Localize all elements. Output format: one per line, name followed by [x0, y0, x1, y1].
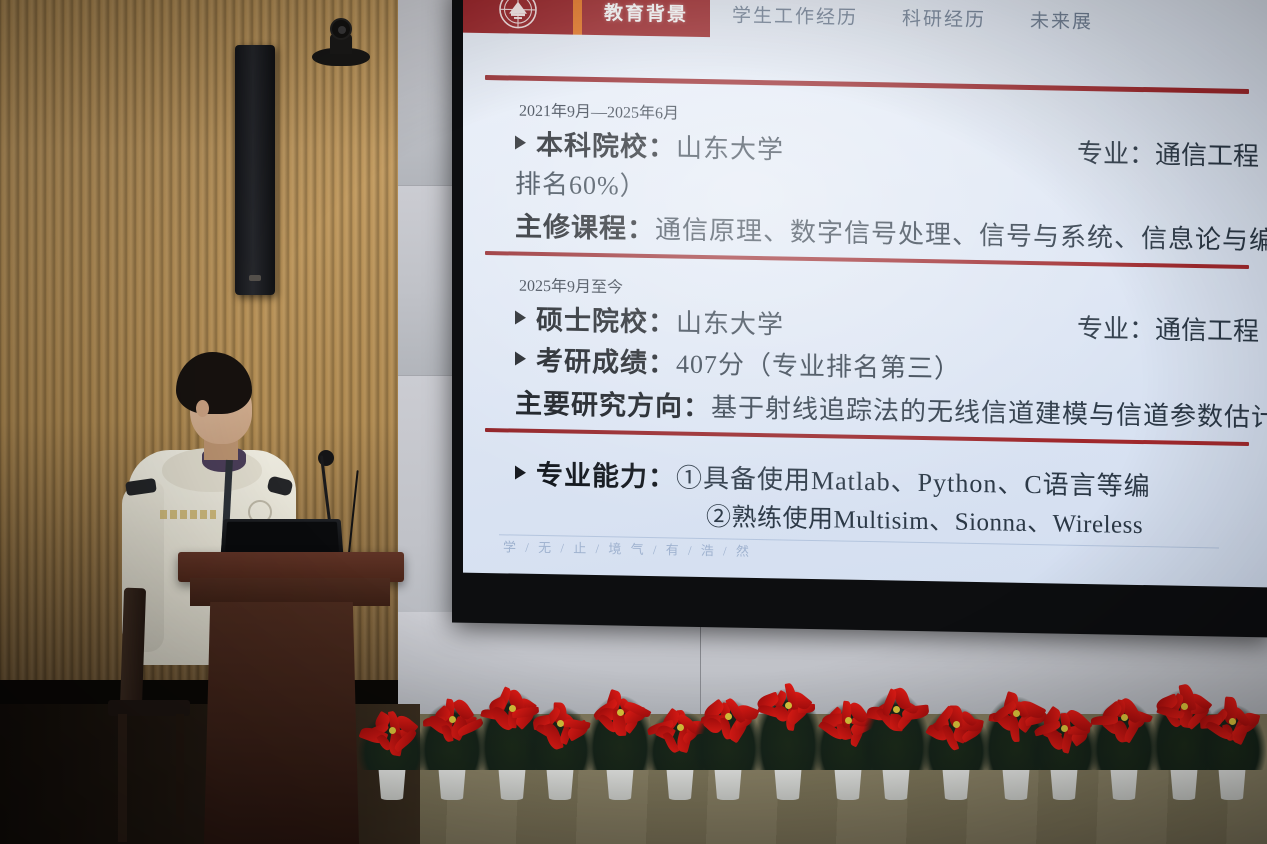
triangle-bullet-icon — [515, 135, 526, 149]
undergrad-major: 专业：通信工程 — [1077, 133, 1259, 173]
flower-center — [557, 720, 564, 727]
masters-school-value: 山东大学 — [676, 302, 784, 341]
ptz-camera-lens — [330, 18, 352, 40]
triangle-bullet-icon — [515, 465, 526, 479]
slide-footer-motto: 学 / 无 / 止 / 境 气 / 有 / 浩 / 然 — [503, 536, 752, 560]
flower-center — [785, 702, 792, 709]
skills-row: 专业能力： ①具备使用Matlab、Python、C语言等编 — [485, 452, 1249, 505]
flower-center — [1229, 718, 1236, 725]
ptz-camera-icon — [312, 18, 370, 66]
presenter-laptop[interactable] — [221, 519, 344, 556]
flower-center — [893, 706, 900, 713]
tab-future-outlook[interactable]: 未来展 — [1008, 0, 1115, 45]
skills-value-2: ②熟练使用Multisim、Sionna、Wireless — [706, 497, 1249, 543]
section-undergraduate: 2021年9月—2025年6月 本科院校： 山东大学 专业：通信工程 排名60%… — [485, 80, 1249, 265]
flower-center — [1181, 703, 1188, 710]
flower-center — [953, 721, 960, 728]
slide-body: 2021年9月—2025年6月 本科院校： 山东大学 专业：通信工程 排名60%… — [463, 33, 1267, 588]
presenter-sleeve-text — [160, 510, 216, 519]
poinsettia-row — [360, 645, 1267, 800]
flower-center — [1013, 710, 1020, 717]
poinsettia-plant — [1032, 702, 1096, 800]
flower-center — [725, 713, 732, 720]
flower-center — [509, 705, 516, 712]
undergrad-courses-value: 通信原理、数字信号处理、信号与系统、信息论与编 — [655, 209, 1267, 257]
skills-label: 专业能力： — [536, 453, 676, 495]
skills-value-1: ①具备使用Matlab、Python、C语言等编 — [676, 457, 1151, 503]
flower-center — [1121, 714, 1128, 721]
research-direction-row: 主要研究方向： 基于射线追踪法的无线信道建模与信道参数估计 — [515, 382, 1249, 434]
sdu-circular-emblem-icon — [498, 0, 538, 30]
wooden-chair-leg — [118, 714, 127, 842]
flower-center — [845, 717, 852, 724]
flower-center — [389, 727, 396, 734]
exam-score-value: 407分（专业排名第三） — [676, 343, 961, 385]
section-skills: 专业能力： ①具备使用Matlab、Python、C语言等编 ②熟练使用Mult… — [485, 432, 1249, 549]
masters-major: 专业：通信工程 — [1077, 308, 1259, 348]
wooden-chair-leg — [176, 714, 184, 824]
flower-center — [677, 724, 684, 731]
masters-school-label: 硕士院校： — [536, 298, 676, 340]
tab-research-experience[interactable]: 科研经历 — [880, 0, 1008, 43]
poinsettia-plant — [864, 683, 928, 800]
flower-center — [449, 716, 456, 723]
presenter-hair — [176, 352, 252, 414]
poinsettia-plant — [1092, 691, 1156, 800]
poinsettia-plant — [588, 686, 652, 800]
wooden-chair-back — [120, 588, 146, 709]
podium-neck — [190, 578, 390, 606]
presenter-ear — [196, 400, 209, 417]
exam-score-label: 考研成绩： — [536, 339, 676, 381]
wooden-podium — [204, 602, 359, 844]
undergrad-school-value: 山东大学 — [676, 127, 784, 166]
accent-bar — [573, 0, 582, 35]
research-direction-label: 主要研究方向： — [515, 382, 711, 425]
triangle-bullet-icon — [515, 310, 526, 324]
laptop-screen — [225, 522, 339, 552]
section-masters: 2025年9月至今 硕士院校： 山东大学 专业：通信工程 考研成绩： 407分（… — [485, 255, 1249, 442]
poinsettia-plant — [696, 690, 760, 800]
tab-education-background[interactable]: 教育背景 — [582, 0, 710, 37]
poinsettia-plant — [924, 698, 988, 800]
sdu-logo-block — [463, 0, 573, 35]
column-loudspeaker — [235, 45, 275, 295]
poinsettia-plant — [756, 679, 820, 800]
auditorium-scene: 教育背景 学生工作经历 科研经历 未来展 2021年9月—2025年6月 本科院… — [0, 0, 1267, 844]
undergrad-school-label: 本科院校： — [536, 123, 676, 165]
poinsettia-plant — [360, 704, 424, 800]
poinsettia-plant — [528, 697, 592, 800]
undergrad-courses-row: 主修课程： 通信原理、数字信号处理、信号与系统、信息论与编 — [515, 205, 1249, 257]
triangle-bullet-icon — [515, 351, 526, 365]
flower-center — [1061, 725, 1068, 732]
tab-student-work-experience[interactable]: 学生工作经历 — [710, 0, 880, 40]
research-direction-value: 基于射线追踪法的无线信道建模与信道参数估计 — [711, 387, 1267, 434]
flower-center — [617, 709, 624, 716]
poinsettia-plant — [420, 693, 484, 800]
poinsettia-plant — [1200, 695, 1264, 800]
presentation-slide: 教育背景 学生工作经历 科研经历 未来展 2021年9月—2025年6月 本科院… — [463, 0, 1267, 587]
undergrad-courses-label: 主修课程： — [515, 205, 655, 247]
